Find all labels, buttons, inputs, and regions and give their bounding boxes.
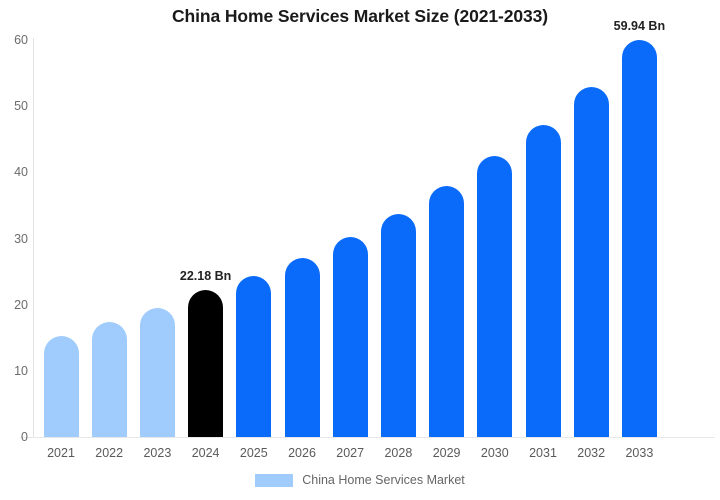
x-tick-label-2030: 2030 — [469, 446, 521, 460]
x-tick-label-2032: 2032 — [565, 446, 617, 460]
bar-2027[interactable] — [333, 237, 368, 437]
chart-legend: China Home Services Market — [0, 473, 720, 487]
bars-layer: 20212022202322.18 Bn20242025202620272028… — [0, 0, 720, 500]
bar-2029[interactable] — [429, 186, 464, 437]
x-tick-label-2028: 2028 — [372, 446, 424, 460]
x-tick-label-2029: 2029 — [421, 446, 473, 460]
bar-2028[interactable] — [381, 214, 416, 437]
x-tick-label-2023: 2023 — [131, 446, 183, 460]
bar-2033[interactable] — [622, 40, 657, 437]
bar-2031[interactable] — [526, 125, 561, 437]
x-tick-label-2031: 2031 — [517, 446, 569, 460]
bar-2025[interactable] — [236, 276, 271, 437]
legend-label-china-home-services-market: China Home Services Market — [302, 473, 465, 487]
legend-swatch-china-home-services-market — [255, 474, 293, 487]
bar-2023[interactable] — [140, 308, 175, 437]
bar-value-label-2024: 22.18 Bn — [180, 269, 231, 283]
bar-2032[interactable] — [574, 87, 609, 437]
x-tick-label-2027: 2027 — [324, 446, 376, 460]
x-tick-label-2024: 2024 — [180, 446, 232, 460]
bar-chart: China Home Services Market Size (2021-20… — [0, 0, 720, 500]
bar-2021[interactable] — [44, 336, 79, 437]
x-tick-label-2022: 2022 — [83, 446, 135, 460]
x-tick-label-2021: 2021 — [35, 446, 87, 460]
x-tick-label-2025: 2025 — [228, 446, 280, 460]
bar-2022[interactable] — [92, 322, 127, 437]
bar-2024[interactable] — [188, 290, 223, 437]
bar-2030[interactable] — [477, 156, 512, 437]
bar-value-label-2033: 59.94 Bn — [614, 19, 665, 33]
bar-2026[interactable] — [285, 258, 320, 437]
x-tick-label-2033: 2033 — [613, 446, 665, 460]
x-tick-label-2026: 2026 — [276, 446, 328, 460]
